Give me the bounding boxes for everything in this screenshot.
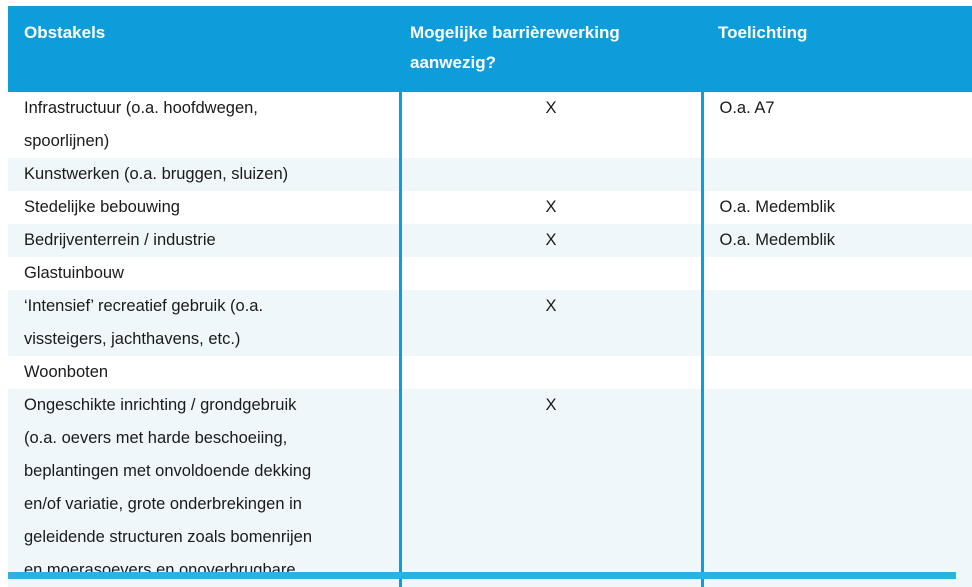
cell-obstakels: Bedrijventerrein / industrie [8, 224, 400, 257]
cell-obstakels-line: Infrastructuur (o.a. hoofdwegen, [24, 92, 391, 125]
table-bottom-rule [8, 572, 956, 579]
header-row: Obstakels Mogelijke barrièrewerking aanw… [8, 6, 972, 92]
cell-barrierewerking: X [400, 389, 702, 587]
barrierewerking-mark: X [545, 290, 556, 323]
cell-toelichting: O.a. A7 [702, 92, 972, 158]
cell-barrierewerking: X [400, 191, 702, 224]
cell-obstakels-line: beplantingen met onvoldoende dekking [24, 455, 391, 488]
cell-obstakels-line: ‘Intensief’ recreatief gebruik (o.a. [24, 290, 391, 323]
barrierewerking-mark: X [545, 224, 556, 257]
column-header-barrierewerking-line2: aanwezig? [410, 48, 702, 78]
cell-toelichting-line: O.a. Medemblik [720, 224, 972, 257]
cell-obstakels-line: vissteigers, jachthavens, etc.) [24, 323, 391, 356]
cell-obstakels-line: Kunstwerken (o.a. bruggen, sluizen) [24, 158, 391, 191]
cell-obstakels-line: Bedrijventerrein / industrie [24, 224, 391, 257]
cell-toelichting [702, 389, 972, 587]
column-header-toelichting: Toelichting [702, 6, 972, 92]
table-row: Glastuinbouw [8, 257, 972, 290]
cell-obstakels: Stedelijke bebouwing [8, 191, 400, 224]
cell-obstakels: Glastuinbouw [8, 257, 400, 290]
cell-obstakels-line: spoorlijnen) [24, 125, 391, 158]
cell-toelichting [702, 257, 972, 290]
cell-obstakels-line: en/of variatie, grote onderbrekingen in [24, 488, 391, 521]
cell-barrierewerking: X [400, 290, 702, 356]
cell-toelichting [702, 290, 972, 356]
cell-obstakels: Ongeschikte inrichting / grondgebruik(o.… [8, 389, 400, 587]
column-header-toelichting-label: Toelichting [718, 18, 972, 48]
table-row: Kunstwerken (o.a. bruggen, sluizen) [8, 158, 972, 191]
cell-barrierewerking: X [400, 92, 702, 158]
cell-obstakels-line: Ongeschikte inrichting / grondgebruik [24, 389, 391, 422]
column-header-barrierewerking: Mogelijke barrièrewerking aanwezig? [400, 6, 702, 92]
table-row: Ongeschikte inrichting / grondgebruik(o.… [8, 389, 972, 587]
table-row: Stedelijke bebouwingXO.a. Medemblik [8, 191, 972, 224]
cell-obstakels: Woonboten [8, 356, 400, 389]
column-header-obstakels: Obstakels [8, 6, 400, 92]
barrierewerking-mark: X [545, 191, 556, 224]
cell-barrierewerking [400, 356, 702, 389]
cell-obstakels-line: (o.a. oevers met harde beschoeiing, [24, 422, 391, 455]
cell-barrierewerking [400, 158, 702, 191]
column-header-obstakels-label: Obstakels [24, 18, 400, 48]
barrierewerking-mark: X [545, 389, 556, 422]
cell-toelichting-line: O.a. Medemblik [720, 191, 972, 224]
table-row: Infrastructuur (o.a. hoofdwegen,spoorlij… [8, 92, 972, 158]
cell-barrierewerking: X [400, 224, 702, 257]
cell-obstakels-line: en moerasoevers en onoverbrugbare [24, 554, 391, 587]
cell-obstakels-line: geleidende structuren zoals bomenrijen [24, 521, 391, 554]
table-row: Bedrijventerrein / industrieXO.a. Medemb… [8, 224, 972, 257]
cell-barrierewerking [400, 257, 702, 290]
table-row: ‘Intensief’ recreatief gebruik (o.a.viss… [8, 290, 972, 356]
cell-toelichting: O.a. Medemblik [702, 191, 972, 224]
cell-obstakels: Infrastructuur (o.a. hoofdwegen,spoorlij… [8, 92, 400, 158]
cell-toelichting: O.a. Medemblik [702, 224, 972, 257]
table-header: Obstakels Mogelijke barrièrewerking aanw… [8, 6, 972, 92]
table-body: Infrastructuur (o.a. hoofdwegen,spoorlij… [8, 92, 972, 587]
barrierewerking-mark: X [545, 92, 556, 125]
cell-obstakels-line: Woonboten [24, 356, 391, 389]
table-row: Woonboten [8, 356, 972, 389]
cell-toelichting [702, 356, 972, 389]
cell-obstakels: Kunstwerken (o.a. bruggen, sluizen) [8, 158, 400, 191]
obstakels-table: Obstakels Mogelijke barrièrewerking aanw… [8, 6, 972, 587]
obstakels-table-container: Obstakels Mogelijke barrièrewerking aanw… [8, 6, 956, 587]
cell-obstakels-line: Glastuinbouw [24, 257, 391, 290]
cell-obstakels-line: Stedelijke bebouwing [24, 191, 391, 224]
cell-toelichting [702, 158, 972, 191]
cell-toelichting-line: O.a. A7 [720, 92, 972, 125]
cell-obstakels: ‘Intensief’ recreatief gebruik (o.a.viss… [8, 290, 400, 356]
column-header-barrierewerking-line1: Mogelijke barrièrewerking [410, 18, 702, 48]
